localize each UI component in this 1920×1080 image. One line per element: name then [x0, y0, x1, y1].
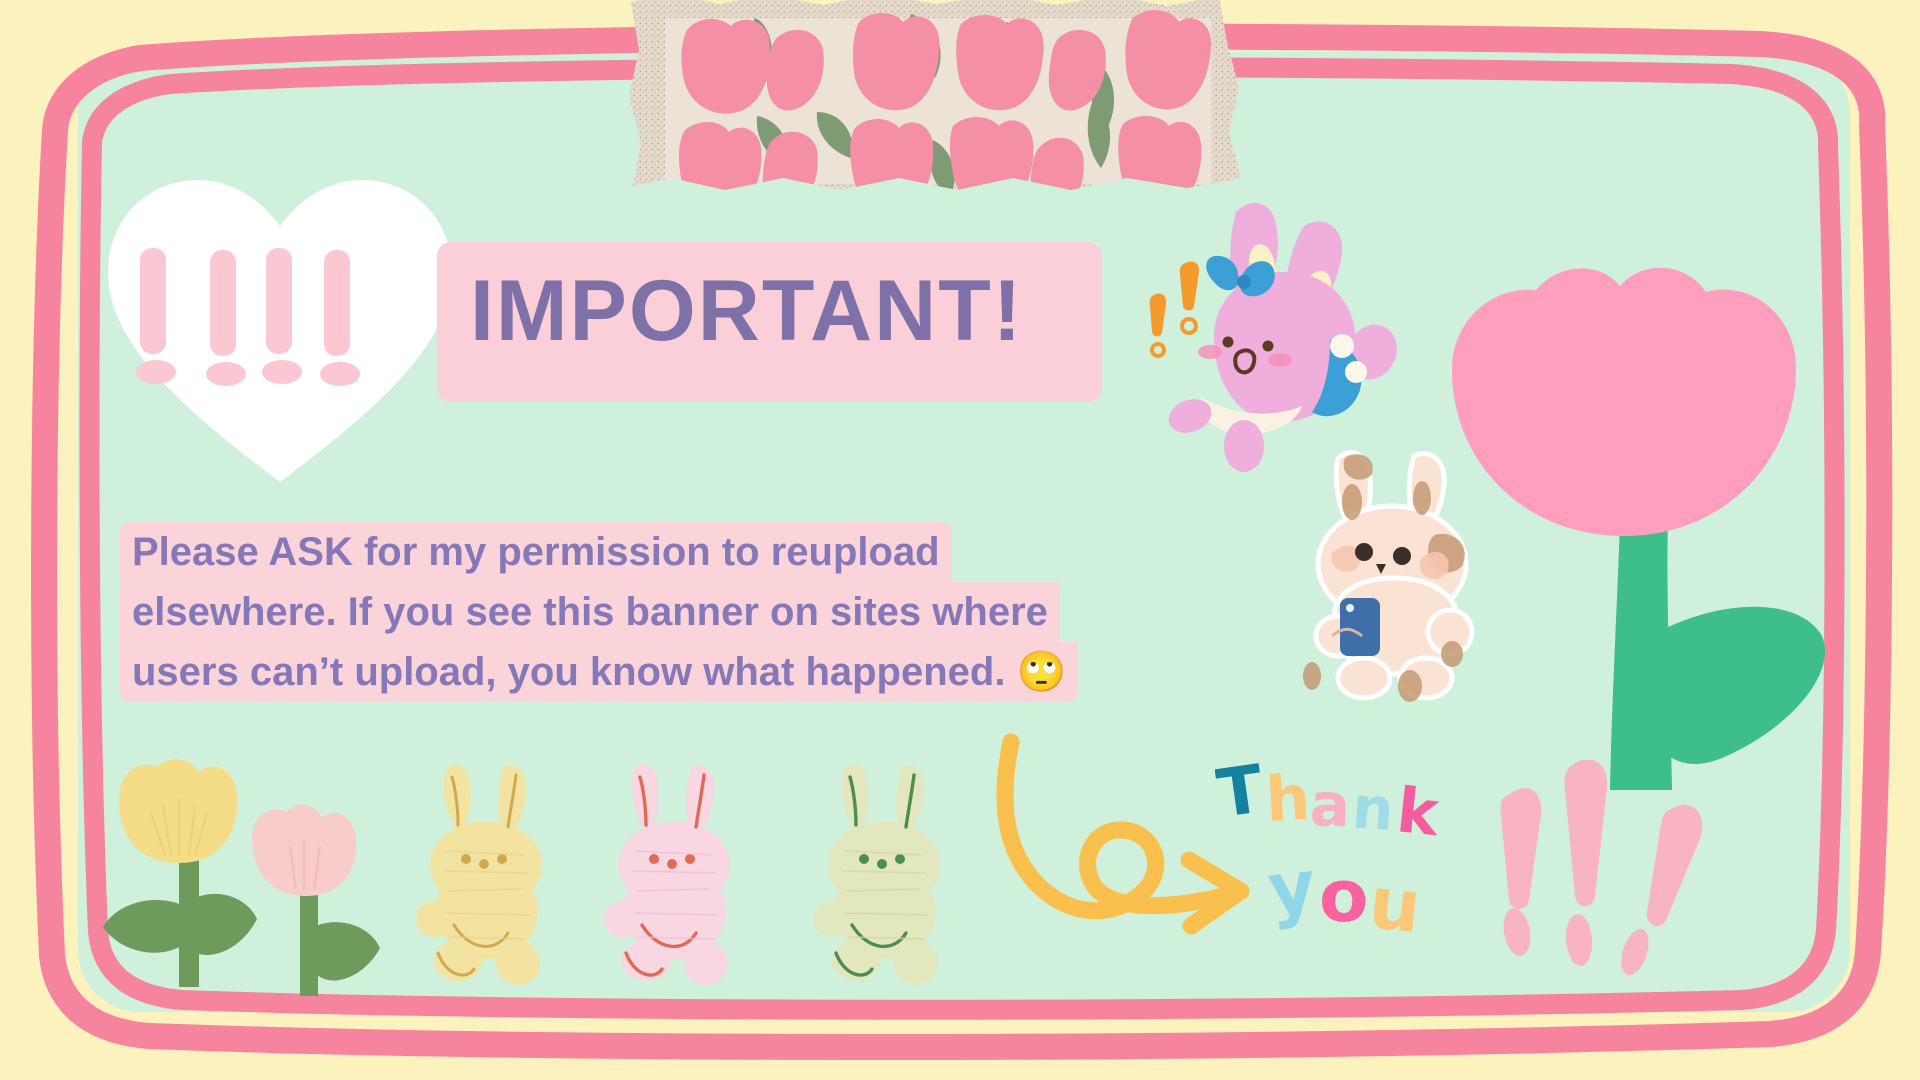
message-line-2: elsewhere. If you see this banner on sit… — [120, 582, 1060, 642]
gummy-bunny-yellow — [412, 755, 562, 995]
message-block: Please ASK for my permission to reupload… — [120, 522, 1180, 722]
thankyou-letter-o: o — [1319, 854, 1368, 938]
large-pink-tulip — [1440, 250, 1860, 810]
thank-you-lettering: T h a n k y o u — [1215, 755, 1525, 955]
gummy-bunny-pink — [600, 755, 750, 995]
pink-exclamation-marks — [1495, 760, 1765, 990]
thankyou-letter-y: y — [1264, 843, 1319, 931]
thankyou-letter-n: n — [1350, 773, 1396, 844]
white-heart-exclamations — [100, 160, 460, 490]
thankyou-letter-u: u — [1365, 860, 1425, 949]
gummy-bunny-green — [810, 755, 960, 995]
thankyou-letter-a: a — [1308, 770, 1351, 841]
page-title: IMPORTANT! — [470, 268, 1090, 354]
orange-exclamation-icon — [1150, 261, 1199, 356]
washi-tape-tulips — [627, 0, 1247, 210]
tulip-pink — [230, 800, 440, 1000]
banner-canvas: IMPORTANT! — [0, 0, 1920, 1080]
thankyou-letter-T: T — [1215, 755, 1268, 833]
thankyou-letter-k: k — [1393, 773, 1443, 850]
message-line-1: Please ASK for my permission to reupload — [120, 522, 952, 582]
blue-phone-icon — [1340, 598, 1380, 656]
thankyou-letter-h: h — [1264, 761, 1312, 836]
message-line-3: users can’t upload, you know what happen… — [120, 642, 1078, 702]
